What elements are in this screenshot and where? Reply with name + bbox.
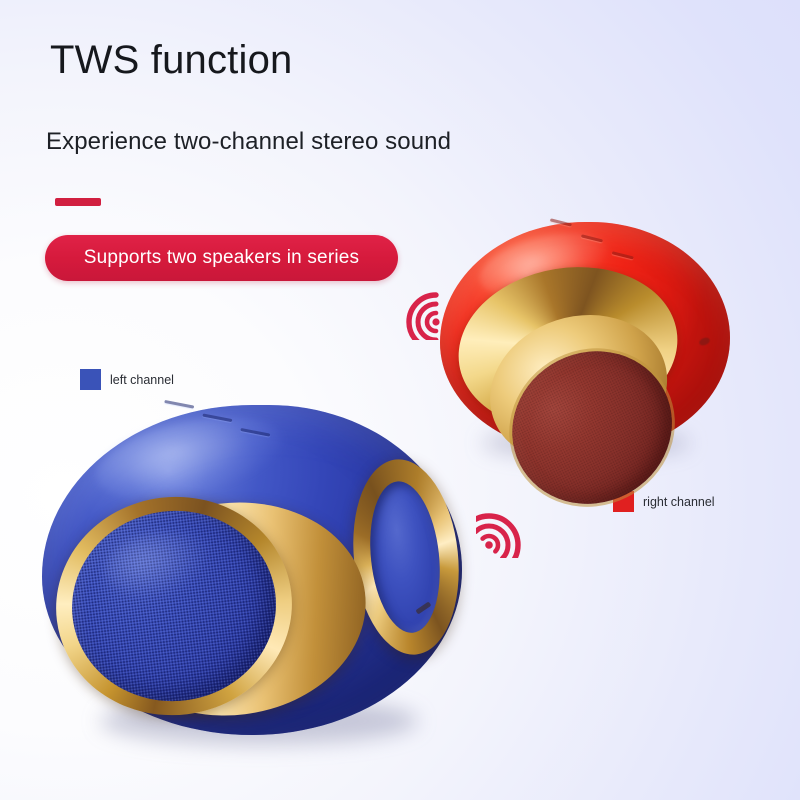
- right-channel-speaker: [440, 222, 730, 454]
- legend-swatch-blue: [80, 369, 101, 390]
- product-marketing-banner: TWS function Experience two-channel ster…: [0, 0, 800, 800]
- feature-badge-label: Supports two speakers in series: [84, 247, 360, 269]
- legend-left-channel: left channel: [80, 369, 174, 390]
- speaker-ring-aperture: [363, 478, 447, 636]
- accent-dash-divider: [55, 198, 101, 206]
- button-indent: [240, 428, 270, 437]
- left-channel-speaker: [42, 405, 462, 745]
- speaker-gold-inner: [471, 293, 687, 487]
- button-indent: [550, 218, 572, 226]
- signal-waves-icon: [392, 288, 444, 345]
- feature-badge: Supports two speakers in series: [45, 235, 398, 281]
- button-indent: [164, 400, 194, 409]
- signal-waves-icon: [476, 500, 534, 563]
- legend-right-channel: right channel: [613, 491, 715, 512]
- speaker-driver-face: [61, 499, 287, 712]
- button-indent: [202, 413, 232, 422]
- button-indent: [581, 234, 603, 242]
- button-indent: [612, 251, 634, 259]
- page-subtitle: Experience two-channel stereo sound: [46, 128, 451, 156]
- page-title: TWS function: [50, 38, 292, 83]
- legend-right-channel-label: right channel: [643, 495, 715, 509]
- legend-left-channel-label: left channel: [110, 373, 174, 387]
